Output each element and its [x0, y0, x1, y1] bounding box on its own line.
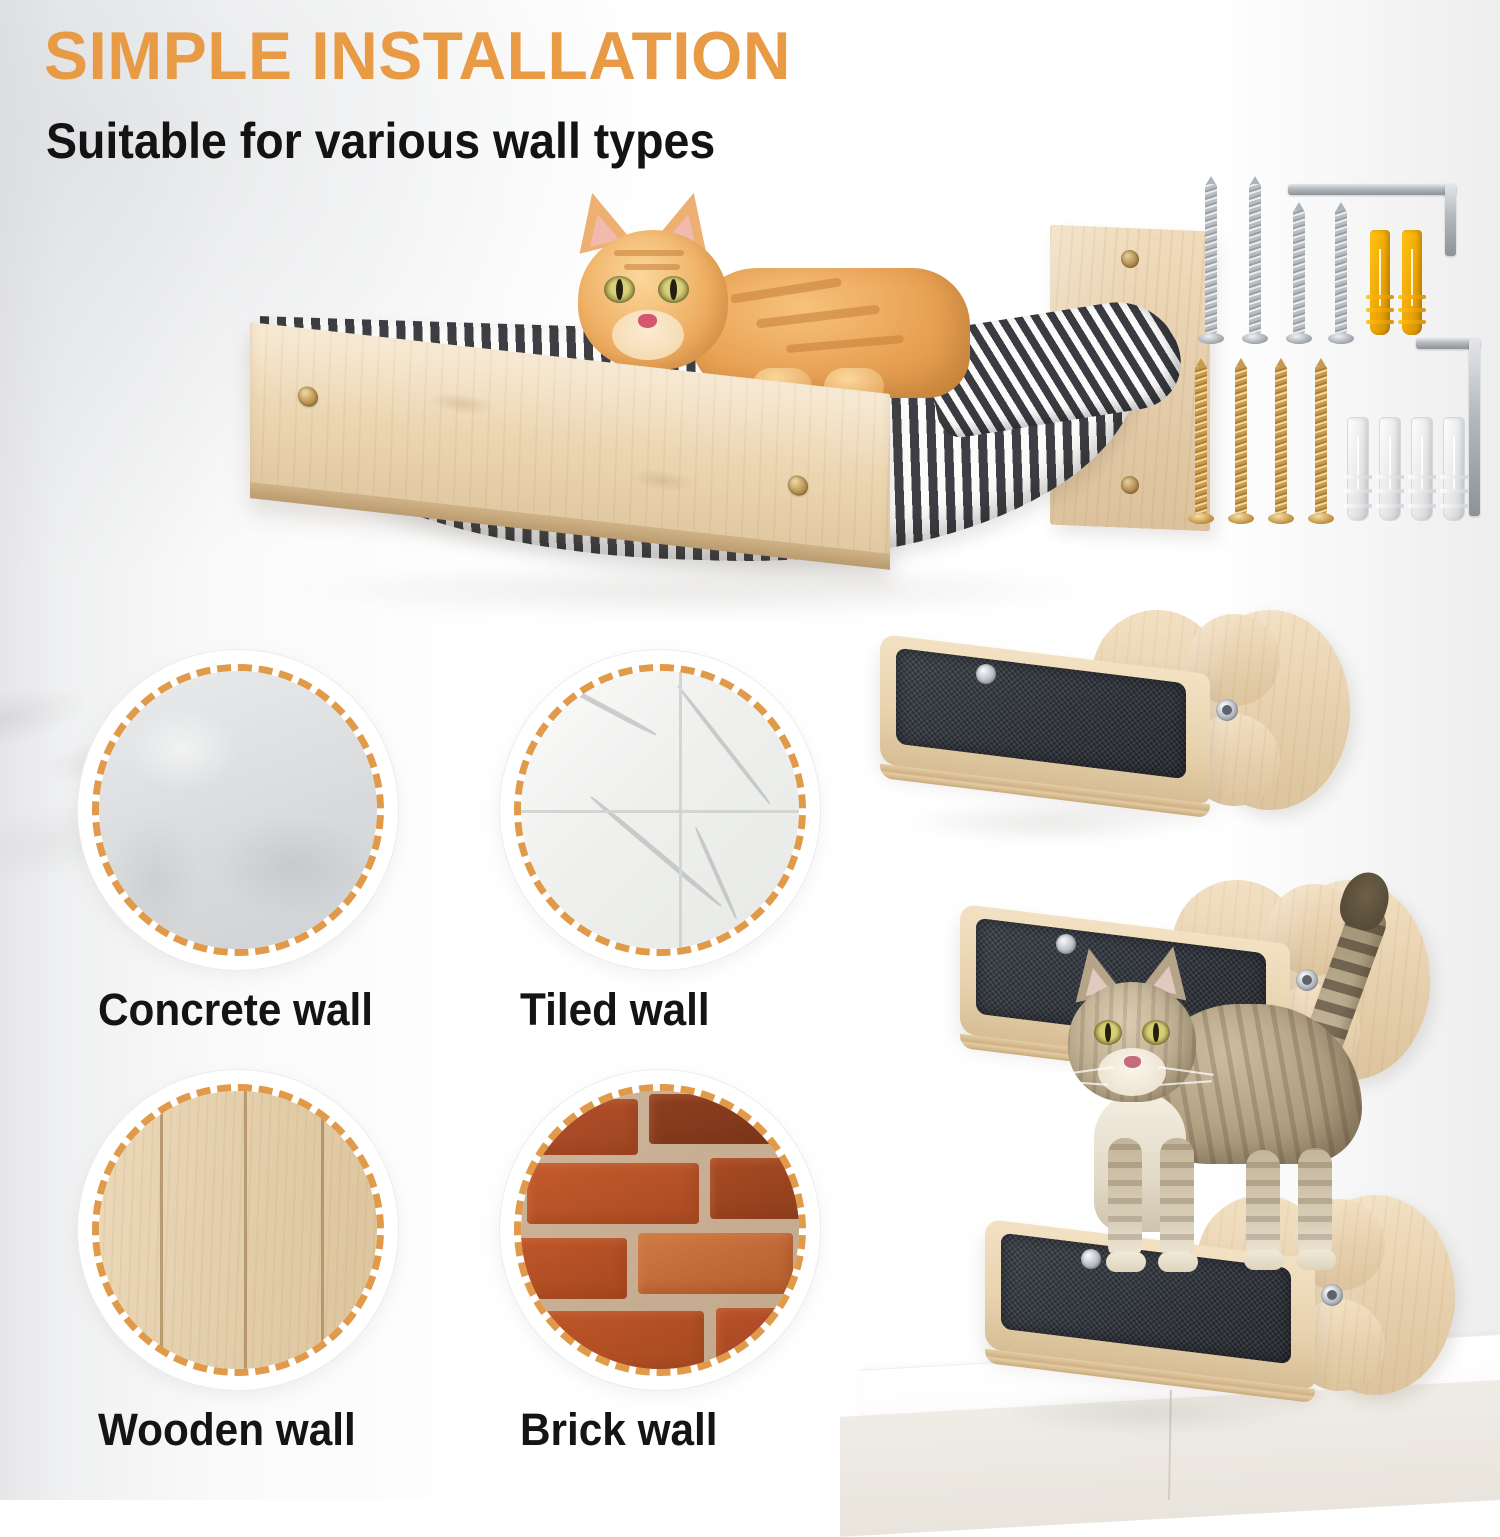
wood-knot [630, 467, 694, 494]
wood-knot [430, 390, 494, 417]
mounting-bolt-icon [1216, 699, 1238, 721]
wall-type-label-wooden: Wooden wall [98, 1404, 356, 1456]
yellow-wall-anchor [1402, 230, 1422, 335]
step-cast-shadow [1000, 1390, 1300, 1434]
white-wall-anchor [1348, 418, 1368, 520]
step-cast-shadow [900, 800, 1200, 844]
swatch-image-wooden [99, 1091, 377, 1369]
cat-paw [1244, 1250, 1284, 1270]
wall-type-label-concrete: Concrete wall [98, 984, 373, 1036]
white-wall-anchor [1412, 418, 1432, 520]
kitten-forehead-stripe [614, 250, 684, 256]
backplate-screw-top [1121, 250, 1139, 269]
short-silver-screw [1286, 210, 1312, 344]
gold-wood-screw [1228, 366, 1254, 524]
step-carpet-pad [896, 648, 1186, 780]
cat-paw [1158, 1252, 1198, 1272]
grey-tabby-cat [1050, 920, 1450, 1340]
kitten-stripe [786, 335, 904, 353]
gold-wood-screw [1188, 366, 1214, 524]
cat-front-leg [1108, 1138, 1142, 1258]
yellow-wall-anchor [1370, 230, 1390, 335]
front-board-screw-left [298, 385, 318, 407]
cat-step-shelf-upper [880, 610, 1350, 830]
step-cloud-wall-plate [1190, 610, 1350, 810]
gold-wood-screw [1268, 366, 1294, 524]
kitten-eye-right [658, 276, 689, 303]
kitten-eye-left [604, 276, 635, 303]
infographic-canvas: SIMPLE INSTALLATION Suitable for various… [0, 0, 1500, 1500]
swatch-image-brick [521, 1091, 799, 1369]
front-board-screw-right [788, 474, 808, 496]
cat-front-leg [1160, 1138, 1194, 1258]
cat-nose [1124, 1056, 1141, 1068]
wall-type-wooden[interactable]: Wooden wall [78, 1070, 398, 1390]
short-silver-screw [1328, 210, 1354, 344]
cat-hammock-shelf [250, 180, 1210, 600]
white-wall-anchor [1444, 418, 1464, 520]
wall-type-label-brick: Brick wall [520, 1404, 718, 1456]
wall-type-label-tiled: Tiled wall [520, 984, 710, 1036]
cat-eye-right [1142, 1020, 1170, 1045]
page-subtitle: Suitable for various wall types [46, 116, 715, 166]
kitten-nose [638, 314, 657, 328]
cat-paw [1106, 1252, 1146, 1272]
long-silver-screw [1198, 184, 1224, 344]
cat-eye-left [1094, 1020, 1122, 1045]
backplate-screw-bottom [1121, 476, 1139, 495]
cat-hind-leg [1298, 1148, 1332, 1258]
long-silver-screw [1242, 184, 1268, 344]
wall-type-brick[interactable]: Brick wall [500, 1070, 820, 1390]
kitten-stripe [756, 304, 880, 328]
kitten-stripe [730, 277, 842, 303]
mounting-bolt-icon [976, 664, 996, 684]
page-title: SIMPLE INSTALLATION [44, 22, 791, 90]
wall-type-tiled[interactable]: Tiled wall [500, 650, 820, 970]
hardware-kit [1180, 170, 1480, 540]
kitten-forehead-stripe [624, 264, 680, 270]
swatch-image-concrete [99, 671, 377, 949]
swatch-image-tiled [521, 671, 799, 949]
cat-paw [1296, 1250, 1336, 1270]
gold-wood-screw [1308, 366, 1334, 524]
cat-hind-leg [1246, 1150, 1280, 1258]
white-wall-anchor [1380, 418, 1400, 520]
wall-type-concrete[interactable]: Concrete wall [78, 650, 398, 970]
